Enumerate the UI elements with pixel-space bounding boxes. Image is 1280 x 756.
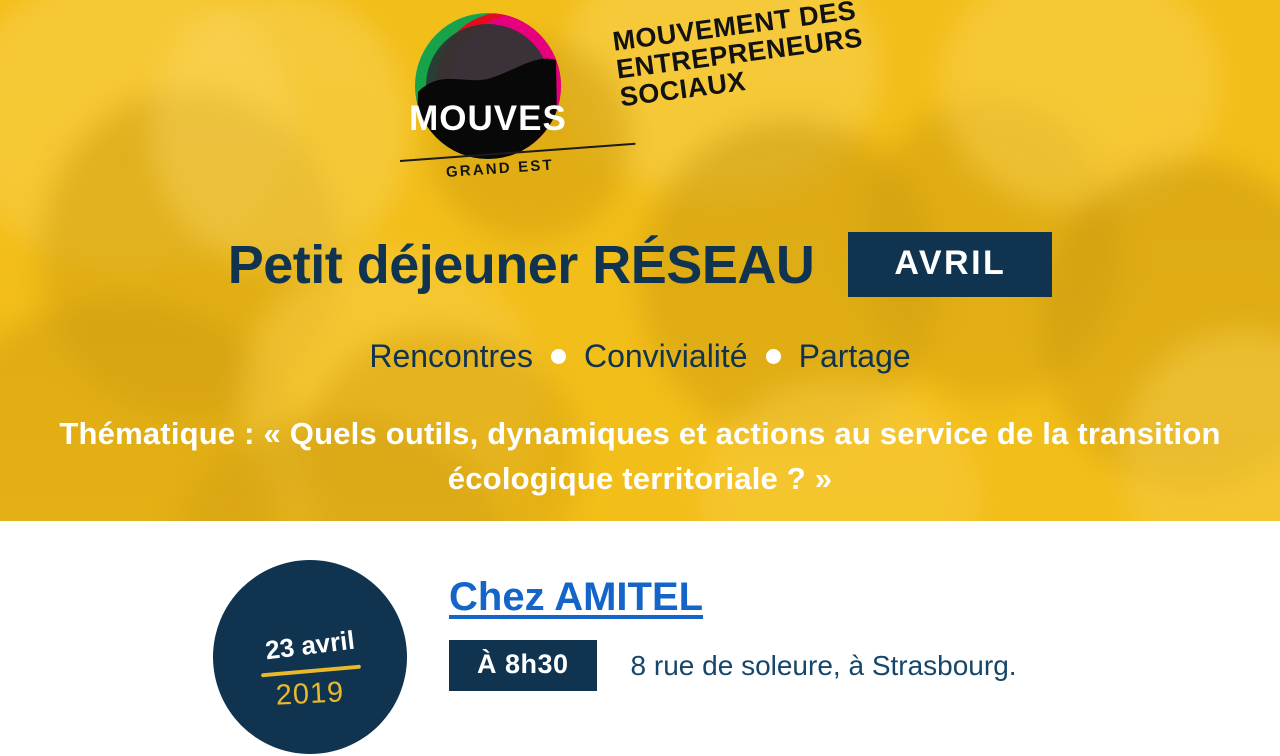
hero-section: MOUVES GRAND EST MOUVEMENT DES ENTREPREN… <box>0 0 1280 521</box>
time-badge: À 8h30 <box>449 640 597 691</box>
subtitle-item-partage: Partage <box>799 338 911 375</box>
address-label: 8 rue de soleure, à Strasbourg. <box>631 650 1017 682</box>
theme-statement: Thématique : « Quels outils, dynamiques … <box>40 412 1240 502</box>
subtitle-item-rencontres: Rencontres <box>369 338 533 375</box>
date-divider-rule <box>261 665 361 678</box>
headline-row: Petit déjeuner RÉSEAU AVRIL <box>0 232 1280 297</box>
subtitle-keywords: Rencontres Convivialité Partage <box>0 338 1280 375</box>
month-badge: AVRIL <box>848 232 1052 297</box>
date-year-label: 2019 <box>275 676 345 713</box>
page-title: Petit déjeuner RÉSEAU <box>228 234 815 296</box>
subtitle-item-convivialite: Convivialité <box>584 338 748 375</box>
date-badge: 23 avril 2019 <box>213 560 407 754</box>
bullet-dot-icon <box>551 349 566 364</box>
venue-info-row: À 8h30 8 rue de soleure, à Strasbourg. <box>449 640 1017 691</box>
event-poster: MOUVES GRAND EST MOUVEMENT DES ENTREPREN… <box>0 0 1280 756</box>
mouves-logo-mark: MOUVES <box>396 8 581 168</box>
date-day-label: 23 avril <box>264 625 357 667</box>
logo-tagline: MOUVEMENT DES ENTREPRENEURS SOCIAUX <box>611 0 868 112</box>
venue-link[interactable]: Chez AMITEL <box>449 575 703 620</box>
details-section: 23 avril 2019 Chez AMITEL À 8h30 8 rue d… <box>0 521 1280 756</box>
bullet-dot-icon <box>766 349 781 364</box>
mouves-logo: MOUVES GRAND EST MOUVEMENT DES ENTREPREN… <box>396 8 856 188</box>
theme-line-1: Thématique : « Quels outils, dynamiques … <box>59 416 1068 451</box>
mouves-wordmark: MOUVES <box>409 99 567 138</box>
